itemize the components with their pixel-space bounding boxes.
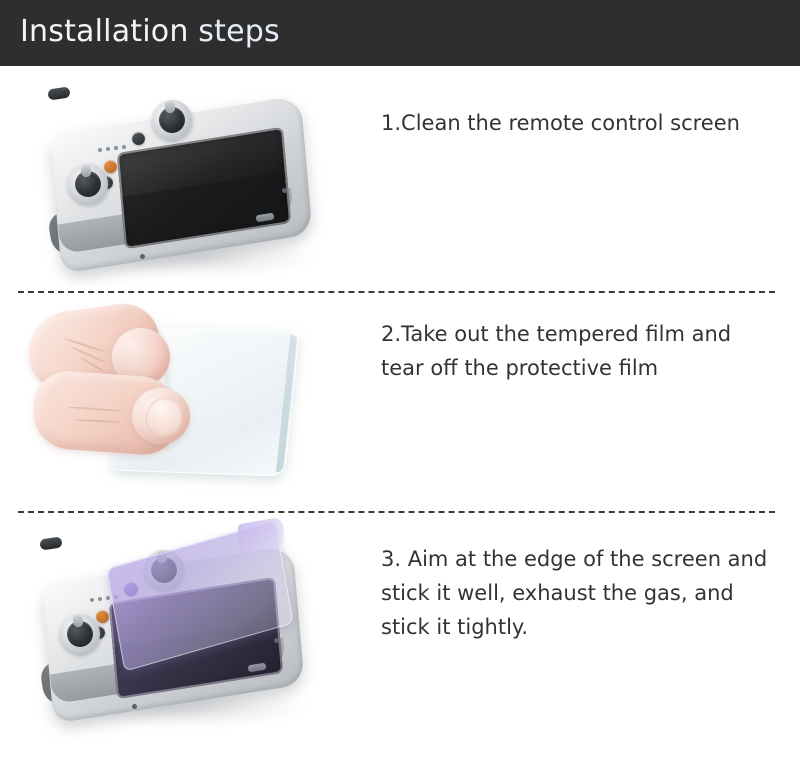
step-3-text: 3. Aim at the edge of the screen and sti… xyxy=(381,542,781,644)
remote-controller-illustration-3 xyxy=(40,538,340,738)
page-title-accent: steps xyxy=(198,14,280,49)
shutter-dial-icon xyxy=(47,86,70,100)
step-2-text: 2.Take out the tempered film and tear of… xyxy=(381,317,781,385)
remote-controller-illustration-1 xyxy=(48,88,348,288)
page-title-main: Installation xyxy=(20,14,198,49)
film-edge xyxy=(276,335,297,472)
step-row-1: 1.Clean the remote control screen xyxy=(0,66,800,290)
header-bar: Installation steps xyxy=(0,0,800,66)
shutter-dial-icon xyxy=(39,536,62,550)
step-row-3: 3. Aim at the edge of the screen and sti… xyxy=(0,510,800,767)
hand-peeling-film-illustration xyxy=(28,302,318,492)
page-title: Installation steps xyxy=(20,14,280,49)
step-2-figure xyxy=(0,290,360,510)
step-1-figure xyxy=(0,66,360,290)
step-3-figure xyxy=(0,510,360,767)
film-pull-tab xyxy=(238,517,285,555)
step-row-2: 2.Take out the tempered film and tear of… xyxy=(0,290,800,510)
step-1-text: 1.Clean the remote control screen xyxy=(381,106,781,140)
